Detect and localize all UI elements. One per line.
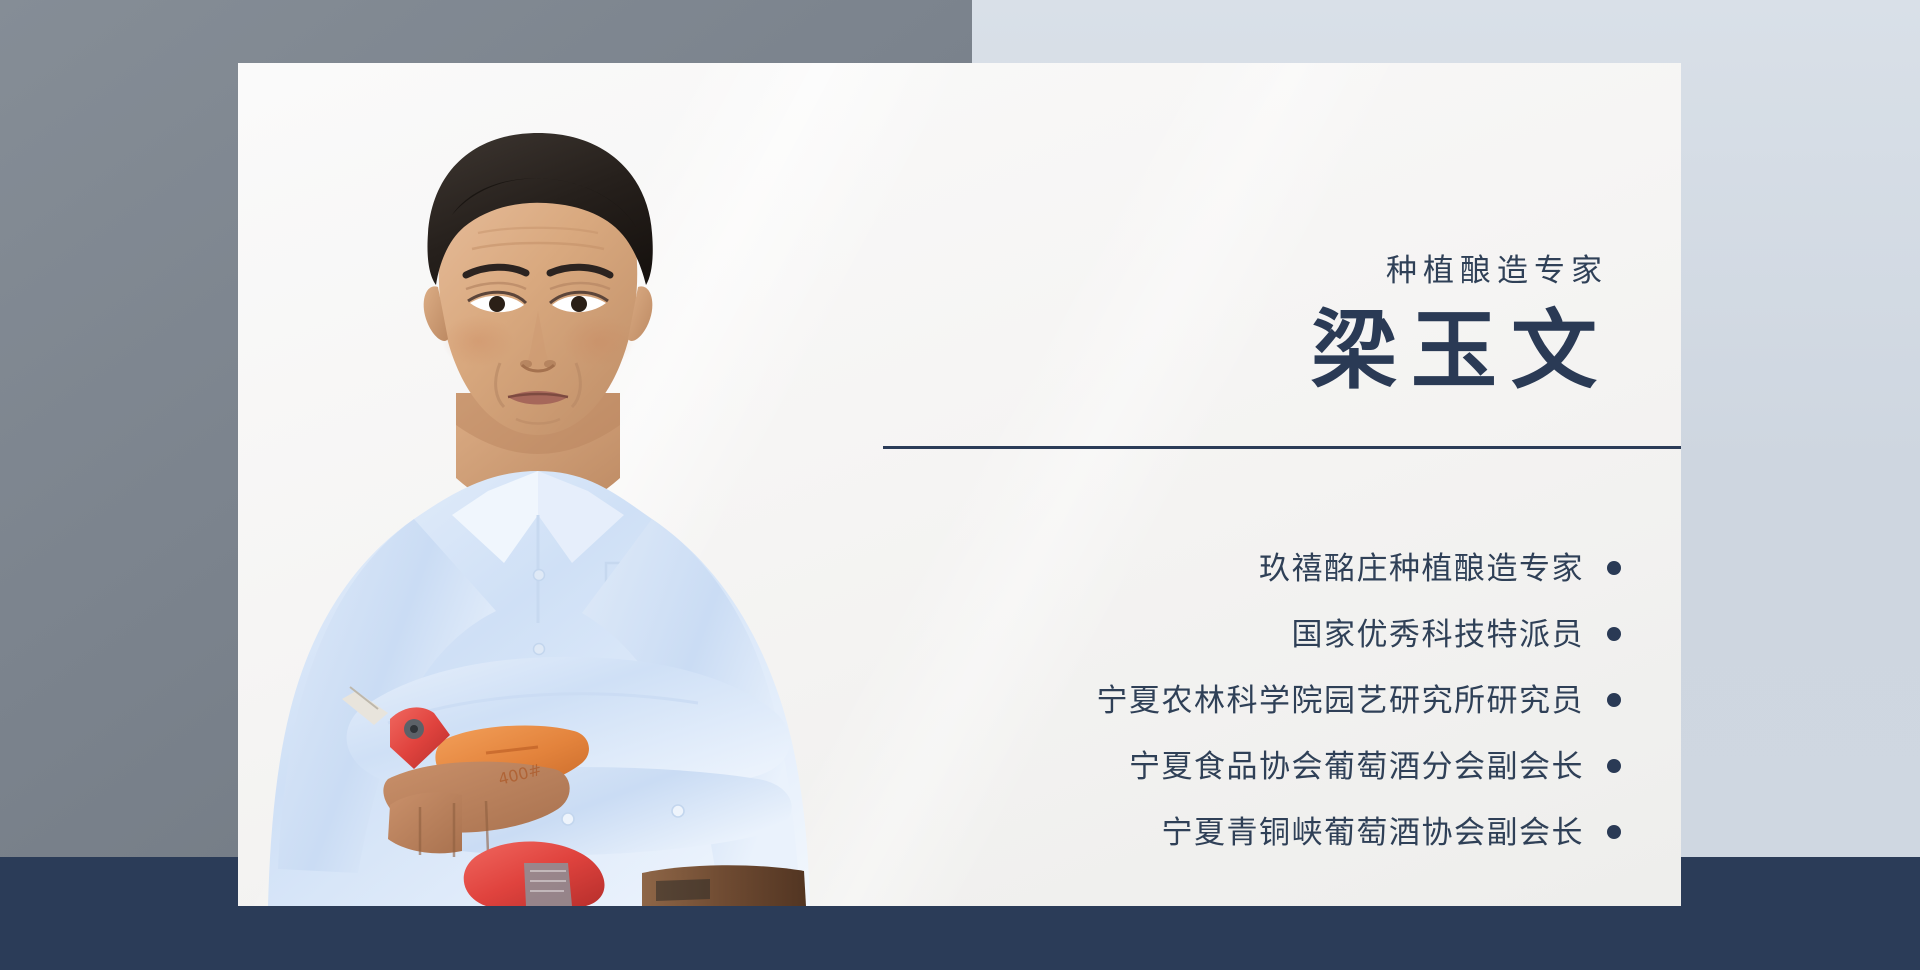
credential-label: 国家优秀科技特派员 — [1292, 619, 1585, 650]
profile-card: 400# — [238, 63, 1681, 906]
list-item: 玖禧酩庄种植酿造专家 — [1259, 541, 1621, 595]
credential-label: 宁夏食品协会葡萄酒分会副会长 — [1129, 751, 1584, 782]
profile-text-column: 种植酿造专家 梁玉文 玖禧酩庄种植酿造专家 国家优秀科技特派员 宁夏农林科学院园… — [938, 63, 1681, 906]
bullet-dot-icon — [1607, 825, 1621, 839]
profile-name: 梁玉文 — [1297, 306, 1611, 396]
credential-label: 玖禧酩庄种植酿造专家 — [1259, 553, 1584, 584]
bullet-dot-icon — [1607, 759, 1621, 773]
list-item: 宁夏农林科学院园艺研究所研究员 — [1097, 673, 1622, 727]
portrait-photo: 400# — [238, 63, 878, 906]
poster-canvas: 400# — [0, 0, 1920, 970]
bullet-dot-icon — [1607, 561, 1621, 575]
bullet-dot-icon — [1607, 693, 1621, 707]
list-item: 国家优秀科技特派员 — [1292, 607, 1622, 661]
credentials-list: 玖禧酩庄种植酿造专家 国家优秀科技特派员 宁夏农林科学院园艺研究所研究员 宁夏食… — [1097, 541, 1622, 859]
credential-label: 宁夏农林科学院园艺研究所研究员 — [1097, 685, 1585, 716]
credential-label: 宁夏青铜峡葡萄酒协会副会长 — [1162, 817, 1585, 848]
list-item: 宁夏食品协会葡萄酒分会副会长 — [1129, 739, 1621, 793]
bullet-dot-icon — [1607, 627, 1621, 641]
list-item: 宁夏青铜峡葡萄酒协会副会长 — [1162, 805, 1622, 859]
divider-rule — [883, 445, 1681, 450]
profile-subtitle: 种植酿造专家 — [1380, 255, 1608, 286]
divider-line — [883, 446, 1681, 449]
